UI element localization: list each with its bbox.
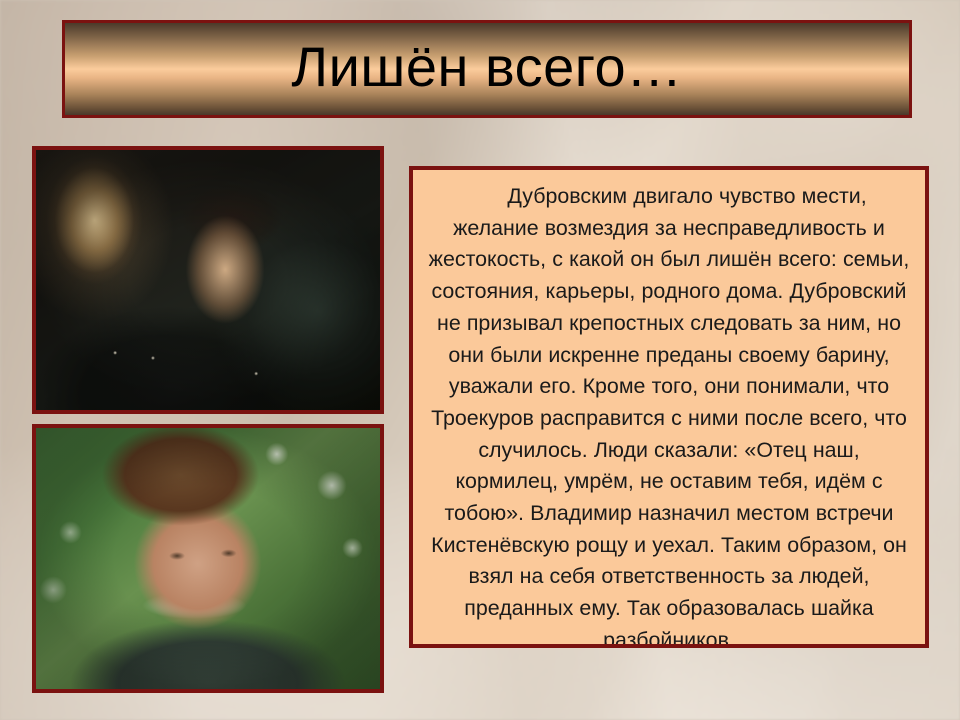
- title-banner: Лишён всего…: [62, 20, 912, 118]
- content-paragraph: Дубровским двигало чувство мести, желани…: [427, 181, 911, 648]
- photo-coachman: [32, 424, 384, 693]
- photo-dubrovsky-image: [36, 150, 380, 410]
- photo-coachman-image: [36, 428, 380, 689]
- page-title: Лишён всего…: [291, 39, 682, 99]
- photo-dubrovsky: [32, 146, 384, 414]
- content-textbox: Дубровским двигало чувство мести, желани…: [409, 166, 929, 648]
